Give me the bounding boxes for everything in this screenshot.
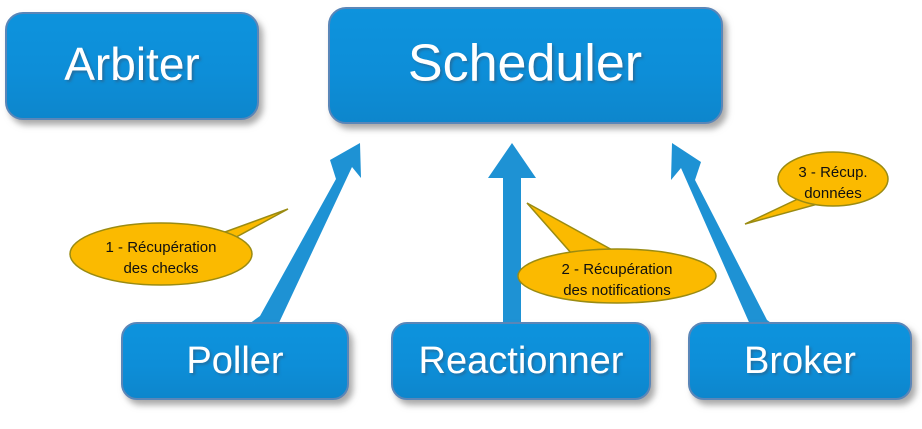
node-broker[interactable]: Broker (689, 323, 911, 399)
callout-3-line2: données (804, 185, 862, 202)
poller-label: Poller (186, 340, 283, 382)
reactionner-label: Reactionner (419, 340, 624, 382)
node-arbiter[interactable]: Arbiter (6, 13, 258, 119)
callout-step-2: 2 - Récupération des notifications (518, 203, 716, 303)
callout-1-line1: 1 - Récupération (106, 239, 217, 256)
arbiter-label: Arbiter (64, 38, 199, 90)
arrow-poller-to-scheduler (232, 143, 361, 340)
diagram-canvas: Arbiter Scheduler Poller Reactionner Bro… (0, 0, 922, 429)
scheduler-label: Scheduler (408, 35, 642, 93)
callout-2-line2: des notifications (563, 282, 671, 299)
callout-step-3: 3 - Récup. données (745, 152, 888, 224)
arrow-reactionner-to-scheduler (488, 143, 536, 340)
flow-diagram: Arbiter Scheduler Poller Reactionner Bro… (0, 0, 922, 429)
node-poller[interactable]: Poller (122, 323, 348, 399)
broker-label: Broker (744, 340, 856, 382)
callout-1-line2: des checks (123, 260, 198, 277)
callout-3-line1: 3 - Récup. (798, 164, 867, 181)
arrow-broker-to-scheduler (671, 143, 795, 342)
callout-step-1: 1 - Récupération des checks (70, 209, 288, 285)
callout-2-line1: 2 - Récupération (562, 261, 673, 278)
node-scheduler[interactable]: Scheduler (329, 8, 722, 123)
node-reactionner[interactable]: Reactionner (392, 323, 650, 399)
